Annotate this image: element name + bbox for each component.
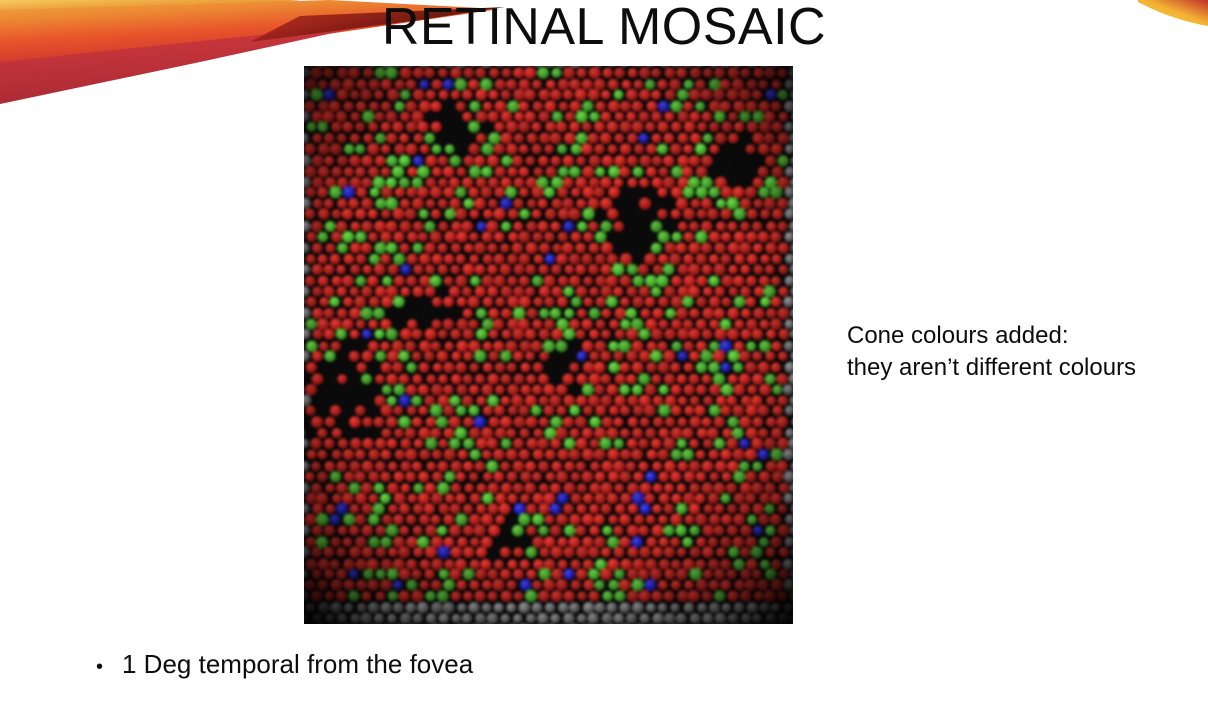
bullet-marker-icon: • <box>96 648 122 686</box>
cone-colour-caption: Cone colours added: they aren’t differen… <box>847 320 1197 384</box>
cone-mosaic-canvas <box>304 66 793 624</box>
bullet-list: • 1 Deg temporal from the fovea <box>96 645 1096 686</box>
list-item: • 1 Deg temporal from the fovea <box>96 645 1096 686</box>
bullet-text: 1 Deg temporal from the fovea <box>122 645 1096 683</box>
caption-line-1: Cone colours added: <box>847 320 1197 352</box>
caption-line-2: they aren’t different colours <box>847 352 1197 384</box>
retinal-cone-mosaic-image <box>304 66 793 624</box>
page-title: RETINAL MOSAIC <box>0 0 1208 58</box>
